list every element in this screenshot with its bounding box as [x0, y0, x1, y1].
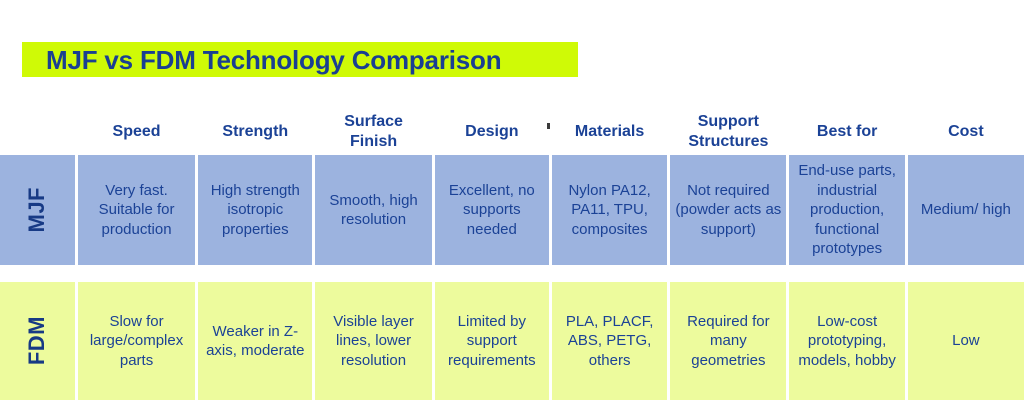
cell-fdm-speed: Slow for large/complex parts — [78, 282, 195, 400]
header-cell-surface-finish: Surface Finish — [315, 108, 431, 155]
cell-text-fdm-design: Limited by support requirements — [439, 312, 545, 371]
cell-fdm-materials: PLA, PLACF, ABS, PETG, others — [552, 282, 667, 400]
row-label-fdm: FDM — [26, 316, 48, 365]
cell-mjf-cost: Medium/ high — [908, 155, 1024, 265]
cell-text-mjf-cost: Medium/ high — [912, 200, 1020, 220]
header-label-surface-finish-line2: Finish — [350, 133, 397, 150]
cell-text-fdm-materials: PLA, PLACF, ABS, PETG, others — [556, 312, 663, 371]
cell-fdm-support-structures: Required for many geometries — [670, 282, 786, 400]
header-label-support-structures: Support Structures — [674, 112, 782, 151]
cell-mjf-strength: High strength isotropic properties — [198, 155, 312, 265]
header-cell-cost: Cost — [908, 108, 1024, 155]
cell-text-mjf-support-structures: Not required (powder acts as support) — [674, 181, 782, 240]
header-label-surface-finish-line1: Surface — [344, 113, 403, 130]
header-label-strength: Strength — [202, 122, 308, 142]
cell-mjf-support-structures: Not required (powder acts as support) — [670, 155, 786, 265]
cell-mjf-best-for: End-use parts, industrial production, fu… — [789, 155, 904, 265]
cell-text-fdm-surface-finish: Visible layer lines, lower resolution — [319, 312, 427, 371]
cell-mjf-surface-finish: Smooth, high resolution — [315, 155, 431, 265]
comparison-table-page: MJF vs FDM Technology Comparison Speed S… — [0, 0, 1024, 410]
cell-mjf-speed: Very fast. Suitable for production — [78, 155, 195, 265]
row-label-cell-fdm: FDM — [0, 282, 75, 400]
cell-text-mjf-strength: High strength isotropic properties — [202, 181, 308, 240]
table-row-mjf: MJF Very fast. Suitable for production H… — [0, 155, 1024, 265]
row-gap — [0, 265, 1024, 282]
header-label-materials: Materials — [556, 122, 663, 142]
header-label-best-for: Best for — [793, 122, 900, 142]
cell-mjf-materials: Nylon PA12, PA11, TPU, composites — [552, 155, 667, 265]
header-cell-support-structures: Support Structures — [670, 108, 786, 155]
page-title: MJF vs FDM Technology Comparison — [46, 44, 586, 76]
header-label-support-structures-line1: Support — [698, 113, 759, 130]
table-header-row: Speed Strength Surface Finish Design Mat… — [0, 108, 1024, 155]
header-label-support-structures-line2: Structures — [688, 133, 768, 150]
cell-fdm-cost: Low — [908, 282, 1024, 400]
cell-text-mjf-speed: Very fast. Suitable for production — [82, 181, 191, 240]
comparison-table: Speed Strength Surface Finish Design Mat… — [0, 108, 1024, 400]
header-cell-materials: Materials — [552, 108, 667, 155]
cell-text-mjf-best-for: End-use parts, industrial production, fu… — [793, 161, 900, 259]
header-cell-speed: Speed — [78, 108, 195, 155]
cell-mjf-design: Excellent, no supports needed — [435, 155, 549, 265]
header-label-design: Design — [439, 122, 545, 142]
table-row-fdm: FDM Slow for large/complex parts Weaker … — [0, 282, 1024, 400]
header-cell-design: Design — [435, 108, 549, 155]
cell-fdm-design: Limited by support requirements — [435, 282, 549, 400]
cell-text-mjf-design: Excellent, no supports needed — [439, 181, 545, 240]
header-label-speed: Speed — [82, 122, 191, 142]
header-label-surface-finish: Surface Finish — [319, 112, 427, 151]
cell-fdm-strength: Weaker in Z-axis, moderate — [198, 282, 312, 400]
cell-text-fdm-support-structures: Required for many geometries — [674, 312, 782, 371]
cell-text-fdm-best-for: Low-cost prototyping, models, hobby — [793, 312, 900, 371]
cell-text-mjf-surface-finish: Smooth, high resolution — [319, 191, 427, 230]
cell-text-mjf-materials: Nylon PA12, PA11, TPU, composites — [556, 181, 663, 240]
header-cell-strength: Strength — [198, 108, 312, 155]
row-label-cell-mjf: MJF — [0, 155, 75, 265]
cell-text-fdm-cost: Low — [912, 331, 1020, 351]
cell-text-fdm-speed: Slow for large/complex parts — [82, 312, 191, 371]
row-label-mjf: MJF — [26, 187, 48, 233]
cell-text-fdm-strength: Weaker in Z-axis, moderate — [202, 322, 308, 361]
header-cell-best-for: Best for — [789, 108, 904, 155]
cell-fdm-surface-finish: Visible layer lines, lower resolution — [315, 282, 431, 400]
header-label-cost: Cost — [912, 122, 1020, 142]
header-cell-corner — [0, 108, 75, 155]
cell-fdm-best-for: Low-cost prototyping, models, hobby — [789, 282, 904, 400]
